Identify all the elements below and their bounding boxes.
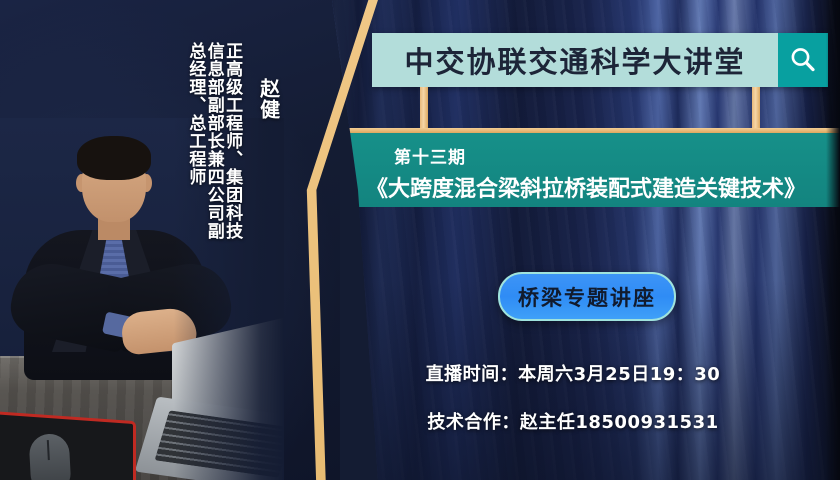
speaker-panel: 赵健 正高级工程师、集团科技 信息部副部长兼四公司副 总经理、总工程师 <box>0 0 340 480</box>
speaker-name: 赵健 <box>257 78 279 120</box>
speaker-credentials: 赵健 正高级工程师、集团科技 信息部副部长兼四公司副 总经理、总工程师 <box>186 14 279 314</box>
speaker-title-line-2: 信息部副部长兼四公司副 <box>204 42 222 240</box>
webinar-poster: 赵健 正高级工程师、集团科技 信息部副部长兼四公司副 总经理、总工程师 中交协联… <box>0 0 840 480</box>
contact-info: 技术合作：赵主任18500931531 <box>306 408 840 434</box>
gold-pillar-right <box>752 87 760 131</box>
episode-topic: 《大跨度混合梁斜拉桥装配式建造关键技术》 <box>332 171 840 203</box>
episode-panel: 第十三期 《大跨度混合梁斜拉桥装配式建造关键技术》 <box>332 133 840 207</box>
event-info: 直播时间：本周六3月25日19：30 技术合作：赵主任18500931531 <box>306 360 840 434</box>
gold-pillar-left <box>420 87 428 131</box>
program-title: 中交协联交通科学大讲堂 <box>372 33 778 87</box>
speaker-title-line-3: 总经理、总工程师 <box>186 42 204 186</box>
topic-badge[interactable]: 桥梁专题讲座 <box>498 272 676 321</box>
search-icon[interactable] <box>778 33 828 87</box>
program-title-bar: 中交协联交通科学大讲堂 <box>372 33 828 87</box>
broadcast-time: 直播时间：本周六3月25日19：30 <box>306 360 840 386</box>
right-edge-shade <box>826 0 840 480</box>
episode-number: 第十三期 <box>394 143 840 168</box>
content-panel: 中交协联交通科学大讲堂 第十三期 《大跨度混合梁斜拉桥装配式建造关键技术》 桥梁… <box>306 0 840 480</box>
speaker-title-line-1: 正高级工程师、集团科技 <box>223 42 241 240</box>
